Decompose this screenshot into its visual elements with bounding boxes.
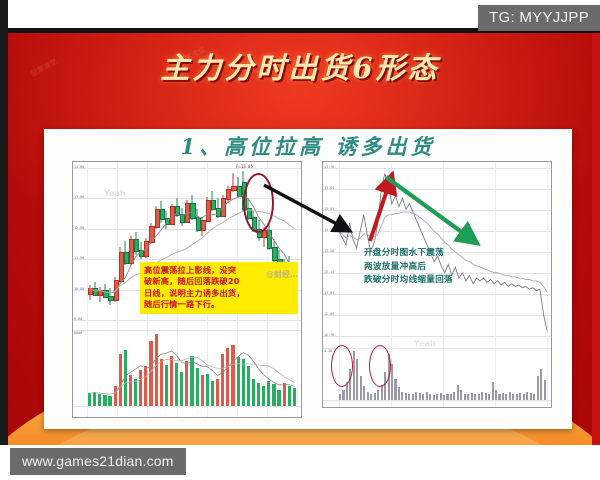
volume-bar (519, 393, 521, 400)
volume-bar (415, 392, 417, 400)
volume-bar (512, 394, 514, 400)
price-tag: F=13.05 (236, 164, 253, 169)
volume-bar (429, 394, 431, 400)
volume-bar (377, 390, 379, 400)
volume-bar (443, 395, 445, 400)
green-note-line: 两波放量冲高后 (364, 261, 453, 275)
volume-bar (419, 393, 421, 400)
volume-bar (530, 393, 532, 400)
yellow-line: 随后行情一路下行。 (144, 299, 294, 310)
volume-bar (478, 394, 480, 400)
volume-bar (339, 394, 341, 400)
volume-bar (398, 387, 400, 400)
volume-bar (533, 394, 535, 400)
volume-bar (495, 390, 497, 400)
volume-bar (440, 393, 442, 400)
volume-bar (436, 394, 438, 400)
slide-watermark: @财经… (266, 269, 298, 280)
volume-bar (460, 390, 462, 400)
volume-bar (502, 393, 504, 400)
volume-axis-label: 4.38 (324, 350, 332, 353)
green-note-line: 跌破分时均线缩量回落 (364, 274, 453, 288)
volume-bar (391, 364, 393, 400)
volume-bar (464, 394, 466, 400)
volume-bar (405, 393, 407, 400)
tg-tag-badge: TG: MYYJJPP (478, 5, 600, 31)
volume-bar (488, 394, 490, 400)
volume-bar (370, 394, 372, 400)
screenshot-root: 股票课堂 股票课堂 股票课堂 股票课堂 股票课堂 股票课堂 主力分时出货6形态 … (0, 0, 600, 480)
volume-bar (360, 376, 362, 400)
volume-bar (453, 392, 455, 400)
volume-bar (474, 394, 476, 400)
volume-bar (505, 394, 507, 400)
volume-bar (374, 393, 376, 400)
yellow-line: 日线，说明主力诱多出货， (144, 288, 294, 299)
right-red-band (592, 33, 600, 445)
highlight-ellipse-volume-2 (369, 345, 391, 387)
green-annotation-notes: 开盘分时图水下震荡 两波放量冲高后 跌破分时均线缩量回落 (364, 247, 453, 288)
volume-bar (526, 392, 528, 400)
volume-bar (412, 394, 414, 400)
green-decline-arrow (382, 169, 490, 255)
volume-bar (433, 395, 435, 400)
volume-bar (471, 393, 473, 400)
volume-bar (356, 359, 358, 400)
volume-bar (363, 386, 365, 400)
volume-bar (422, 394, 424, 400)
red-poster-background: 股票课堂 股票课堂 股票课堂 股票课堂 股票课堂 股票课堂 主力分时出货6形态 … (8, 33, 592, 445)
volume-bar (481, 392, 483, 400)
volume-bar (401, 392, 403, 400)
volume-bar (492, 382, 494, 400)
green-note-line: 开盘分时图水下震荡 (364, 247, 453, 261)
slide-subtitle: 1、高位拉高 诱多出货 (44, 131, 572, 161)
volume-bar (516, 394, 518, 400)
black-pointer-arrow (262, 181, 358, 245)
volume-bar (523, 394, 525, 400)
volume-bar (485, 393, 487, 400)
slide-watermark: Yeah (414, 339, 436, 348)
volume-bar (498, 394, 500, 400)
volume-bar (509, 392, 511, 400)
left-black-band (0, 0, 8, 480)
volume-bar (342, 390, 344, 400)
page-title: 主力分时出货6形态 (160, 45, 439, 87)
volume-bar (353, 351, 355, 400)
volume-bar (450, 394, 452, 400)
volume-bar (446, 394, 448, 400)
volume-bar (537, 376, 539, 400)
volume-bar (426, 392, 428, 400)
highlight-ellipse-volume-1 (331, 345, 353, 387)
volume-bar (394, 379, 396, 400)
volume-bar (544, 380, 546, 400)
volume-bar (408, 394, 410, 400)
volume-bar (467, 394, 469, 400)
volume-bar (540, 369, 542, 400)
volume-bar (367, 392, 369, 400)
slide-panel: 1、高位拉高 诱多出货 14.0013.0012.0011.0010.009.0… (44, 129, 572, 429)
slide-watermark: Yeah (104, 189, 126, 198)
website-url-badge[interactable]: www.games21dian.com (10, 448, 186, 475)
volume-bar (457, 385, 459, 400)
poster-banner: 主力分时出货6形态 (8, 42, 592, 90)
